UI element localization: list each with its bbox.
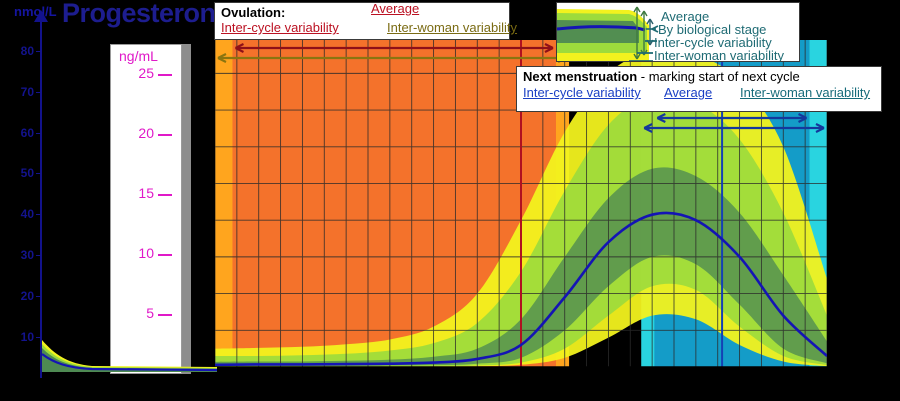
next-menstruation-annotation-box: Next menstruation - marking start of nex…: [516, 66, 882, 112]
y-axis-arrow-icon: [34, 10, 48, 22]
legend-box: Average By biological stage Inter-cycle …: [556, 2, 800, 62]
ovulation-intercycle-label: Inter-cycle variability: [221, 20, 339, 35]
y-axis-line: [40, 18, 42, 378]
ovulation-title: Ovulation:: [221, 5, 504, 20]
y-axis-right-tick-mark: [158, 74, 172, 76]
y-axis-left-tick-mark: [36, 133, 41, 134]
y-axis-left-tick-label: 40: [8, 207, 34, 221]
ngml-scale-bar: [182, 44, 191, 374]
y-axis-right-tick-label: 20: [126, 125, 154, 141]
progesterone-chart-figure: nmol/L Progesterone 8070605040302010 ng/…: [0, 0, 900, 401]
menstruation-intercycle-label: Inter-cycle variability: [523, 85, 641, 100]
y-axis-right-tick-label: 25: [126, 65, 154, 81]
ovulation-average-label: Average: [371, 1, 419, 16]
menstruation-interwoman-label: Inter-woman variability: [740, 85, 870, 100]
menstruation-average-label: Average: [664, 85, 712, 100]
y-axis-left-tick-mark: [36, 255, 41, 256]
y-axis-left-tick-mark: [36, 51, 41, 52]
y-axis-right-tick-mark: [158, 314, 172, 316]
y-axis-left-tick-label: 50: [8, 166, 34, 180]
y-axis-right-tick-label: 15: [126, 185, 154, 201]
y-axis-left-tick-label: 70: [8, 85, 34, 99]
y-axis-right-tick-label: 10: [126, 245, 154, 261]
y-axis-left-tick-mark: [36, 214, 41, 215]
ovulation-annotation-box: Ovulation: Inter-cycle variability Avera…: [214, 2, 510, 40]
y-axis-left-tick-mark: [36, 173, 41, 174]
legend-interwoman-label: Inter-woman variability: [654, 48, 784, 62]
y-axis-right-tick-mark: [158, 134, 172, 136]
pre-cycle-tail-curve: [42, 338, 217, 378]
y-axis-left-tick-mark: [36, 337, 41, 338]
y-axis-right-tick-mark: [158, 194, 172, 196]
y-axis-right-tick-mark: [158, 254, 172, 256]
menstruation-title-rest: - marking start of next cycle: [637, 69, 800, 84]
chart-title: Progesterone: [62, 0, 230, 29]
menstruation-title-strong: Next menstruation: [523, 69, 637, 84]
y-axis-left-tick-label: 80: [8, 44, 34, 58]
y-axis-left-tick-mark: [36, 296, 41, 297]
ngml-unit-label: ng/mL: [119, 48, 158, 64]
menstruation-title: Next menstruation - marking start of nex…: [523, 69, 876, 84]
y-axis-left-tick-label: 10: [8, 330, 34, 344]
y-axis-left-tick-label: 30: [8, 248, 34, 262]
ngml-scale-panel: [110, 44, 182, 374]
y-axis-left-tick-label: 60: [8, 126, 34, 140]
y-axis-left-tick-label: 20: [8, 289, 34, 303]
ovulation-interwoman-label: Inter-woman variability: [387, 20, 517, 35]
y-axis-right-tick-label: 5: [126, 305, 154, 321]
y-axis-left-tick-mark: [36, 92, 41, 93]
